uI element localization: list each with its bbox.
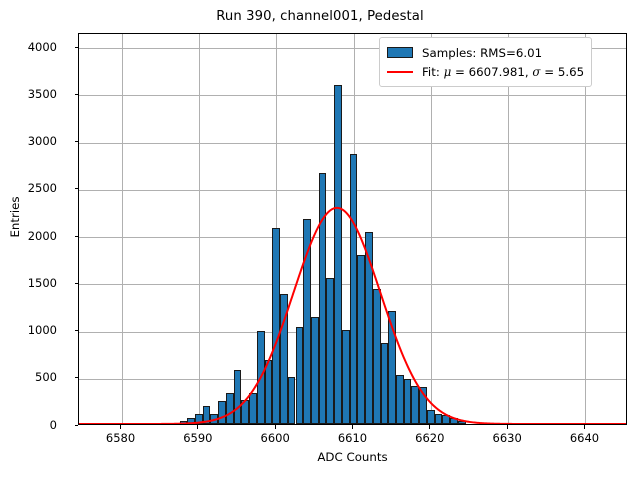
x-tick-mark: [352, 425, 353, 429]
histogram-bar: [419, 387, 427, 424]
y-tick-label: 500: [35, 370, 57, 384]
x-tick-label: 6630: [477, 431, 537, 445]
y-tick-label: 0: [50, 418, 57, 432]
histogram-bar: [404, 379, 412, 424]
histogram-bar: [396, 375, 404, 424]
histogram-bar: [311, 317, 319, 424]
histogram-bar: [365, 232, 373, 424]
histogram-bar: [334, 85, 342, 424]
plot-area: [78, 33, 627, 425]
histogram-bar: [303, 219, 311, 424]
x-tick-mark: [584, 425, 585, 429]
histogram-bar: [241, 400, 249, 424]
legend-label-samples: Samples: RMS=6.01: [422, 46, 542, 60]
y-tick-mark: [75, 283, 79, 284]
y-tick-mark: [75, 188, 79, 189]
y-tick-label: 2500: [28, 181, 57, 195]
y-tick-mark: [75, 425, 79, 426]
x-axis-label: ADC Counts: [78, 450, 627, 464]
histogram-bar: [388, 311, 396, 424]
histogram-bar: [272, 228, 280, 424]
legend-swatch-samples-icon: [387, 47, 413, 58]
y-tick-label: 2000: [28, 229, 57, 243]
chart-title: Run 390, channel001, Pedestal: [0, 9, 640, 24]
x-tick-mark: [429, 425, 430, 429]
y-tick-label: 1500: [28, 276, 57, 290]
histogram-bar: [195, 414, 203, 424]
x-tick-label: 6580: [91, 431, 151, 445]
histogram-bar: [350, 154, 358, 424]
histogram-bar: [187, 418, 195, 424]
y-tick-mark: [75, 377, 79, 378]
x-tick-label: 6610: [323, 431, 383, 445]
histogram-bar: [458, 421, 466, 424]
histogram-bar: [357, 255, 365, 424]
y-tick-mark: [75, 330, 79, 331]
y-tick-mark: [75, 236, 79, 237]
histogram-bar: [226, 393, 234, 424]
histogram-bar: [411, 386, 419, 424]
histogram-bar: [210, 414, 218, 424]
y-tick-mark: [75, 94, 79, 95]
y-tick-mark: [75, 47, 79, 48]
histogram-bar: [203, 406, 211, 424]
histogram-bar: [381, 343, 389, 424]
histogram-bar: [326, 278, 334, 424]
histogram-bar: [450, 418, 458, 424]
y-tick-mark: [75, 141, 79, 142]
histogram-bar: [180, 421, 188, 424]
histogram-bar: [218, 401, 226, 424]
histogram-bar: [435, 414, 443, 424]
histogram-figure: Run 390, channel001, Pedestal 0500100015…: [0, 0, 640, 480]
y-tick-label: 3500: [28, 87, 57, 101]
x-tick-label: 6620: [400, 431, 460, 445]
histogram-bar: [427, 410, 435, 424]
y-axis-label: Entries: [8, 127, 22, 307]
histogram-bar: [249, 393, 257, 424]
x-tick-label: 6600: [245, 431, 305, 445]
x-tick-mark: [275, 425, 276, 429]
x-tick-label: 6640: [554, 431, 614, 445]
chart-legend[interactable]: Samples: RMS=6.01 Fit: μ = 6607.981, σ =…: [379, 37, 592, 87]
legend-swatch-fit-icon: [387, 71, 413, 73]
x-tick-label: 6590: [168, 431, 228, 445]
legend-label-fit: Fit: μ = 6607.981, σ = 5.65: [422, 65, 584, 79]
histogram-bars: [79, 34, 626, 424]
histogram-bar: [280, 294, 288, 424]
y-tick-label: 1000: [28, 323, 57, 337]
histogram-bar: [373, 289, 381, 424]
legend-item-samples: Samples: RMS=6.01: [387, 43, 584, 62]
y-tick-label: 4000: [28, 40, 57, 54]
histogram-bar: [288, 377, 296, 424]
x-tick-mark: [120, 425, 121, 429]
x-tick-mark: [507, 425, 508, 429]
histogram-bar: [234, 370, 242, 424]
histogram-bar: [442, 415, 450, 424]
histogram-bar: [296, 327, 304, 424]
legend-item-fit: Fit: μ = 6607.981, σ = 5.65: [387, 62, 584, 81]
y-tick-label: 3000: [28, 134, 57, 148]
histogram-bar: [257, 331, 265, 425]
histogram-bar: [265, 360, 273, 424]
histogram-bar: [342, 330, 350, 424]
histogram-bar: [319, 173, 327, 424]
x-tick-mark: [197, 425, 198, 429]
